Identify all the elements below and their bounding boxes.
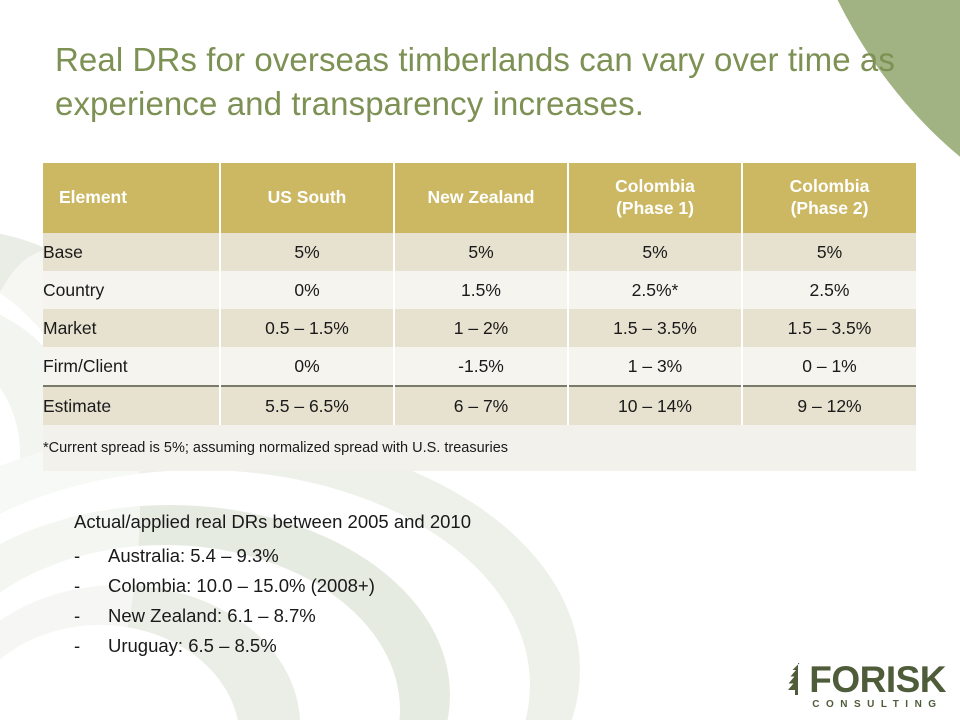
table-header-row: Element US South New Zealand Colombia (P… bbox=[43, 163, 916, 233]
column-header-colombia-phase-1: Colombia (Phase 1) bbox=[568, 163, 742, 233]
column-header-element-line1: Element bbox=[59, 187, 219, 209]
column-header-element: Element bbox=[43, 163, 220, 233]
column-header-colombia-phase-2-line1: Colombia bbox=[743, 176, 916, 198]
logo-wordmark: FORISK CONSULTING bbox=[809, 661, 946, 710]
column-header-new-zealand: New Zealand bbox=[394, 163, 568, 233]
list-item-label: Australia: 5.4 – 9.3% bbox=[108, 541, 279, 571]
column-header-colombia-phase-2-line2: (Phase 2) bbox=[743, 198, 916, 220]
cell-colombia-p2-firm-client: 0 – 1% bbox=[742, 347, 916, 386]
cell-colombia-p1-base: 5% bbox=[568, 233, 742, 271]
column-header-us-south: US South bbox=[220, 163, 394, 233]
cell-element-base: Base bbox=[43, 233, 220, 271]
column-header-colombia-phase-1-line2: (Phase 1) bbox=[569, 198, 741, 220]
list-item-label: Uruguay: 6.5 – 8.5% bbox=[108, 631, 277, 661]
bullet-dash-icon: - bbox=[74, 601, 108, 631]
list-item: - Colombia: 10.0 – 15.0% (2008+) bbox=[74, 571, 634, 601]
cell-colombia-p2-country: 2.5% bbox=[742, 271, 916, 309]
cell-us-south-firm-client: 0% bbox=[220, 347, 394, 386]
cell-us-south-country: 0% bbox=[220, 271, 394, 309]
cell-us-south-estimate: 5.5 – 6.5% bbox=[220, 386, 394, 425]
logo-name: FORISK bbox=[809, 661, 946, 698]
list-item: - Australia: 5.4 – 9.3% bbox=[74, 541, 634, 571]
cell-new-zealand-estimate: 6 – 7% bbox=[394, 386, 568, 425]
bullets-lead-text: Actual/applied real DRs between 2005 and… bbox=[74, 508, 634, 537]
table-footnote-row: *Current spread is 5%; assuming normaliz… bbox=[43, 425, 916, 471]
cell-colombia-p1-firm-client: 1 – 3% bbox=[568, 347, 742, 386]
table-row: Firm/Client 0% -1.5% 1 – 3% 0 – 1% bbox=[43, 347, 916, 386]
column-header-colombia-phase-1-line1: Colombia bbox=[569, 176, 741, 198]
cell-element-country: Country bbox=[43, 271, 220, 309]
bullets-list: - Australia: 5.4 – 9.3% - Colombia: 10.0… bbox=[74, 541, 634, 661]
cell-colombia-p2-estimate: 9 – 12% bbox=[742, 386, 916, 425]
cell-element-market: Market bbox=[43, 309, 220, 347]
table-footnote: *Current spread is 5%; assuming normaliz… bbox=[43, 425, 916, 471]
pine-tree-icon bbox=[786, 662, 808, 701]
list-item-label: New Zealand: 6.1 – 8.7% bbox=[108, 601, 316, 631]
column-header-new-zealand-line1: New Zealand bbox=[395, 187, 567, 209]
cell-colombia-p2-base: 5% bbox=[742, 233, 916, 271]
cell-us-south-base: 5% bbox=[220, 233, 394, 271]
list-item-label: Colombia: 10.0 – 15.0% (2008+) bbox=[108, 571, 375, 601]
table-body: Base 5% 5% 5% 5% Country 0% 1.5% 2.5%* 2… bbox=[43, 233, 916, 471]
list-item: - Uruguay: 6.5 – 8.5% bbox=[74, 631, 634, 661]
cell-new-zealand-market: 1 – 2% bbox=[394, 309, 568, 347]
column-header-us-south-line1: US South bbox=[221, 187, 393, 209]
cell-new-zealand-firm-client: -1.5% bbox=[394, 347, 568, 386]
list-item: - New Zealand: 6.1 – 8.7% bbox=[74, 601, 634, 631]
cell-colombia-p1-estimate: 10 – 14% bbox=[568, 386, 742, 425]
table-row: Base 5% 5% 5% 5% bbox=[43, 233, 916, 271]
bullet-dash-icon: - bbox=[74, 541, 108, 571]
table-row: Market 0.5 – 1.5% 1 – 2% 1.5 – 3.5% 1.5 … bbox=[43, 309, 916, 347]
cell-colombia-p1-country: 2.5%* bbox=[568, 271, 742, 309]
forisk-consulting-logo: FORISK CONSULTING bbox=[786, 661, 946, 710]
cell-colombia-p1-market: 1.5 – 3.5% bbox=[568, 309, 742, 347]
cell-new-zealand-country: 1.5% bbox=[394, 271, 568, 309]
discount-rate-table: Element US South New Zealand Colombia (P… bbox=[43, 163, 916, 471]
bullet-dash-icon: - bbox=[74, 631, 108, 661]
bullet-dash-icon: - bbox=[74, 571, 108, 601]
slide-title: Real DRs for overseas timberlands can va… bbox=[55, 38, 895, 126]
actual-applied-rates-block: Actual/applied real DRs between 2005 and… bbox=[74, 508, 634, 661]
logo-tagline: CONSULTING bbox=[809, 700, 946, 710]
cell-new-zealand-base: 5% bbox=[394, 233, 568, 271]
discount-rate-table-wrapper: Element US South New Zealand Colombia (P… bbox=[43, 163, 916, 471]
cell-element-firm-client: Firm/Client bbox=[43, 347, 220, 386]
table-header: Element US South New Zealand Colombia (P… bbox=[43, 163, 916, 233]
slide-canvas: Real DRs for overseas timberlands can va… bbox=[0, 0, 960, 720]
left-arc-gap-2 bbox=[0, 330, 20, 575]
column-header-colombia-phase-2: Colombia (Phase 2) bbox=[742, 163, 916, 233]
cell-us-south-market: 0.5 – 1.5% bbox=[220, 309, 394, 347]
table-row-estimate: Estimate 5.5 – 6.5% 6 – 7% 10 – 14% 9 – … bbox=[43, 386, 916, 425]
cell-colombia-p2-market: 1.5 – 3.5% bbox=[742, 309, 916, 347]
table-row: Country 0% 1.5% 2.5%* 2.5% bbox=[43, 271, 916, 309]
cell-element-estimate: Estimate bbox=[43, 386, 220, 425]
